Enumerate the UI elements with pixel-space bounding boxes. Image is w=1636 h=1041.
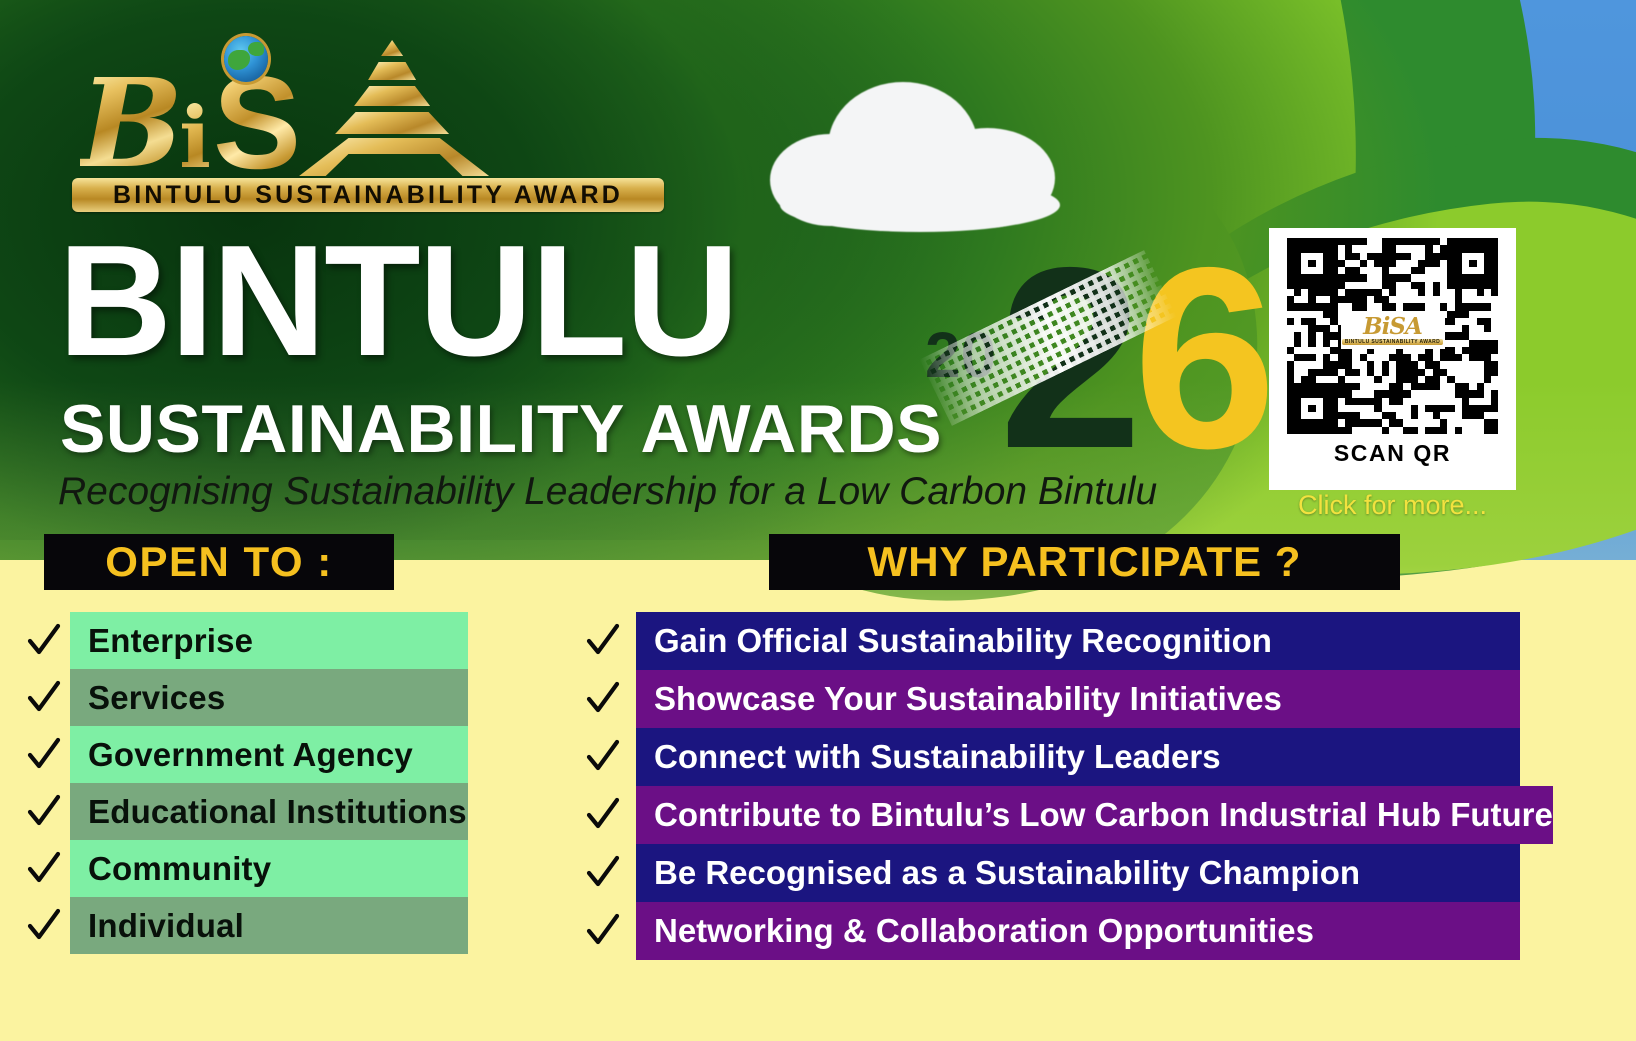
check-icon <box>570 728 636 786</box>
year-graphic: 2 6 20 <box>915 235 1215 505</box>
logo-letter-b: B <box>80 71 183 176</box>
why-participate-list: Gain Official Sustainability Recognition… <box>570 612 1520 960</box>
list-item: Connect with Sustainability Leaders <box>570 728 1520 786</box>
check-icon <box>18 840 70 897</box>
qr-logo-mark: BiSA <box>1363 315 1422 338</box>
list-item: Contribute to Bintulu’s Low Carbon Indus… <box>570 786 1520 844</box>
check-icon <box>18 612 70 669</box>
list-item: Services <box>18 669 468 726</box>
why-participate-header-label: WHY PARTICIPATE ? <box>868 541 1302 583</box>
open-to-item-label: Services <box>70 669 468 726</box>
open-to-item-label: Community <box>70 840 468 897</box>
check-icon <box>18 669 70 726</box>
why-participate-header: WHY PARTICIPATE ? <box>769 534 1400 590</box>
open-to-item-label: Educational Institutions <box>70 783 468 840</box>
open-to-item-label: Enterprise <box>70 612 468 669</box>
open-to-list: EnterpriseServicesGovernment AgencyEduca… <box>18 612 468 954</box>
why-participate-item-label: Be Recognised as a Sustainability Champi… <box>636 844 1520 902</box>
qr-code-card[interactable]: BiSA BINTULU SUSTAINABILITY AWARD SCAN Q… <box>1269 228 1516 490</box>
pyramid-tower-icon <box>297 36 492 176</box>
poster-canvas: B i S BINTULU SUSTAINABILITY AWARD BINTU… <box>0 0 1636 1041</box>
logo-letter-s: S <box>213 70 301 176</box>
check-icon <box>18 726 70 783</box>
qr-embedded-logo: BiSA BINTULU SUSTAINABILITY AWARD <box>1341 311 1445 349</box>
why-participate-item-label: Connect with Sustainability Leaders <box>636 728 1520 786</box>
open-to-item-label: Individual <box>70 897 468 954</box>
check-icon <box>570 670 636 728</box>
open-to-header: OPEN TO : <box>44 534 394 590</box>
why-participate-item-label: Gain Official Sustainability Recognition <box>636 612 1520 670</box>
list-item: Gain Official Sustainability Recognition <box>570 612 1520 670</box>
check-icon <box>18 897 70 954</box>
list-item: Individual <box>18 897 468 954</box>
check-icon <box>570 612 636 670</box>
list-item: Showcase Your Sustainability Initiatives <box>570 670 1520 728</box>
open-to-item-label: Government Agency <box>70 726 468 783</box>
list-item: Community <box>18 840 468 897</box>
why-participate-item-label: Showcase Your Sustainability Initiatives <box>636 670 1520 728</box>
list-item: Be Recognised as a Sustainability Champi… <box>570 844 1520 902</box>
qr-logo-banner: BINTULU SUSTAINABILITY AWARD <box>1342 339 1443 345</box>
scan-qr-label: SCAN QR <box>1334 440 1451 467</box>
bisa-logo-mark: B i S <box>72 26 672 176</box>
page-title: BINTULU <box>58 222 737 380</box>
year-digit-two: 6 <box>1133 229 1277 487</box>
list-item: Educational Institutions <box>18 783 468 840</box>
list-item: Government Agency <box>18 726 468 783</box>
bisa-logo: B i S BINTULU SUSTAINABILITY AWARD <box>72 26 672 211</box>
check-icon <box>18 783 70 840</box>
year-digit-one: 2 <box>999 229 1143 487</box>
why-participate-item-label: Networking & Collaboration Opportunities <box>636 902 1520 960</box>
click-for-more-link[interactable]: Click for more... <box>1269 492 1516 519</box>
year-prefix: 20 <box>925 323 996 387</box>
globe-icon <box>224 36 268 82</box>
cloud-icon <box>770 78 1070 228</box>
page-subtitle: SUSTAINABILITY AWARDS <box>60 395 942 463</box>
list-item: Networking & Collaboration Opportunities <box>570 902 1520 960</box>
logo-letter-i: i <box>179 99 211 176</box>
check-icon <box>570 902 636 960</box>
list-item: Enterprise <box>18 612 468 669</box>
check-icon <box>570 786 636 844</box>
why-participate-item-label: Contribute to Bintulu’s Low Carbon Indus… <box>636 786 1553 844</box>
check-icon <box>570 844 636 902</box>
qr-code-image[interactable]: BiSA BINTULU SUSTAINABILITY AWARD <box>1287 238 1499 434</box>
open-to-header-label: OPEN TO : <box>105 541 332 583</box>
